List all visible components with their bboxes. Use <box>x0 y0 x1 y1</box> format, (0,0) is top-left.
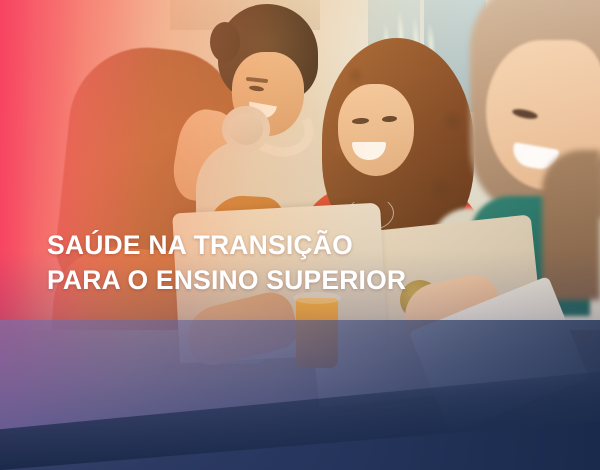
footer-bar: Região Autónoma da Madeira Governo Regio… <box>0 360 600 470</box>
page-title: SAÚDE NA TRANSIÇÃO PARA O ENSINO SUPERIO… <box>47 228 567 298</box>
headline-line-2: PARA O ENSINO SUPERIOR <box>47 263 567 298</box>
campaign-banner: SAÚDE NA TRANSIÇÃO PARA O ENSINO SUPERIO… <box>0 0 600 470</box>
headline-line-1: SAÚDE NA TRANSIÇÃO <box>47 228 567 263</box>
